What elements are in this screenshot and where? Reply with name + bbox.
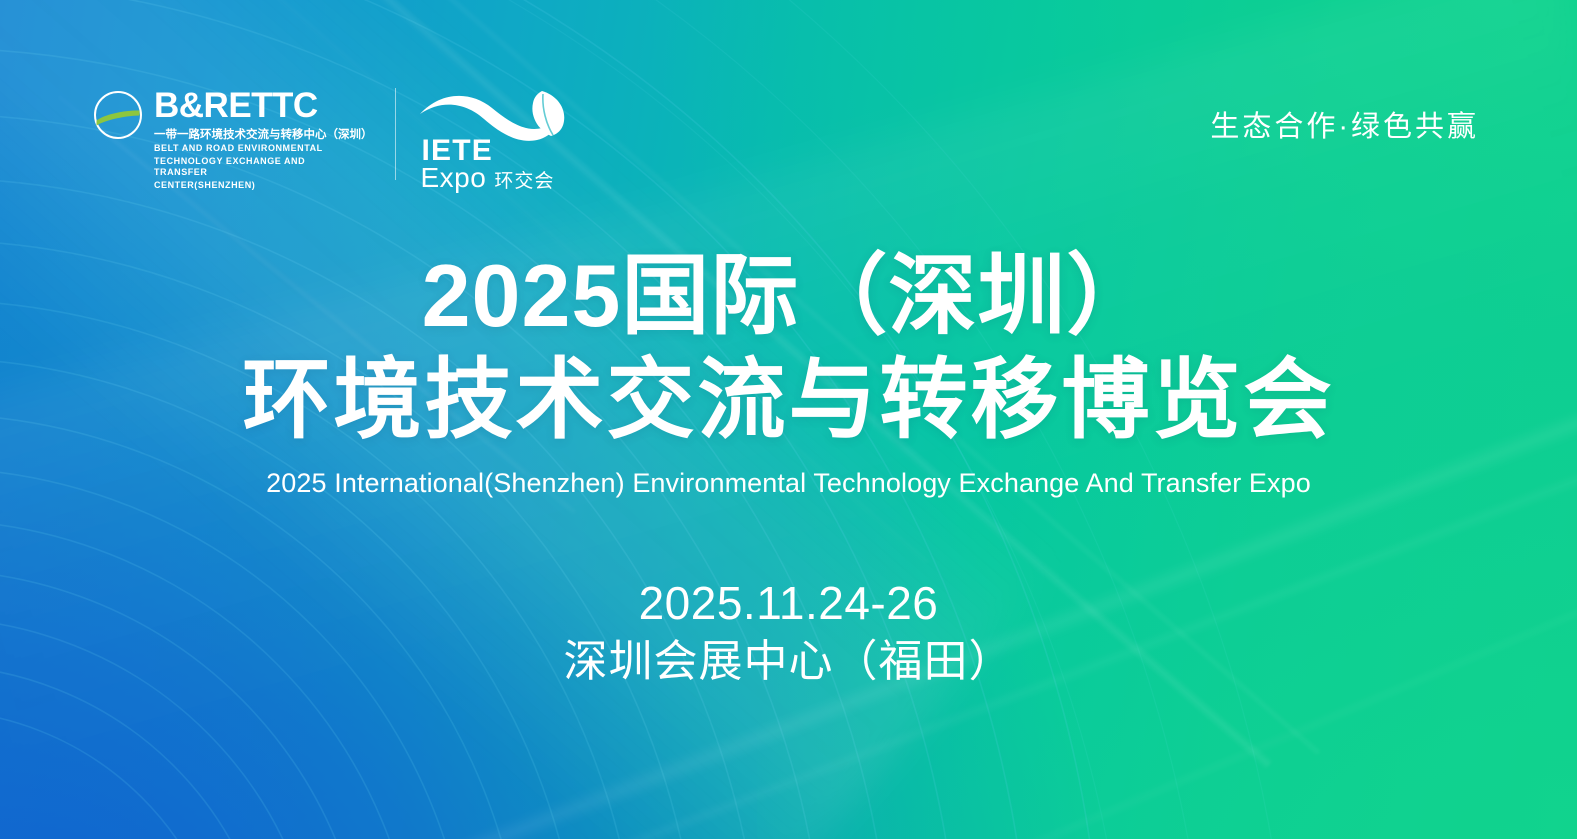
title-english: 2025 International(Shenzhen) Environment…	[0, 468, 1577, 499]
iete-expo-wordmark: Expo 环交会	[421, 164, 555, 192]
title-chinese-line-1: 2025国际（深圳）	[0, 252, 1577, 340]
logo-row: B&RETTC 一带一路环境技术交流与转移中心（深圳） BELT AND ROA…	[92, 88, 588, 188]
brettc-wordmark: B&RETTC	[154, 88, 373, 123]
iete-expo-word: Expo	[421, 164, 487, 192]
event-venue: 深圳会展中心（福田）	[0, 636, 1577, 689]
iete-expo-logo: IETE Expo 环交会	[418, 88, 588, 188]
brettc-text-block: B&RETTC 一带一路环境技术交流与转移中心（深圳） BELT AND ROA…	[154, 88, 373, 191]
iete-chinese-short: 环交会	[494, 172, 554, 191]
header-tagline: 生态合作·绿色共赢	[1210, 103, 1479, 145]
expo-banner: B&RETTC 一带一路环境技术交流与转移中心（深圳） BELT AND ROA…	[0, 0, 1577, 839]
title-chinese-line-2: 环境技术交流与转移博览会	[0, 356, 1577, 444]
brettc-english-line-2: TECHNOLOGY EXCHANGE AND TRANSFER	[154, 156, 354, 179]
brettc-logo: B&RETTC 一带一路环境技术交流与转移中心（深圳） BELT AND ROA…	[92, 88, 396, 180]
brettc-english-line-3: CENTER(SHENZHEN)	[154, 180, 354, 192]
event-date: 2025.11.24-26	[0, 577, 1577, 630]
banner-header: B&RETTC 一带一路环境技术交流与转移中心（深圳） BELT AND ROA…	[0, 0, 1577, 210]
brettc-english-line-1: BELT AND ROAD ENVIRONMENTAL	[154, 143, 354, 155]
banner-content: 2025国际（深圳） 环境技术交流与转移博览会 2025 Internation…	[0, 252, 1577, 689]
brettc-chinese-name: 一带一路环境技术交流与转移中心（深圳）	[154, 128, 373, 142]
globe-icon	[92, 89, 144, 146]
event-meta: 2025.11.24-26 深圳会展中心（福田）	[0, 577, 1577, 689]
